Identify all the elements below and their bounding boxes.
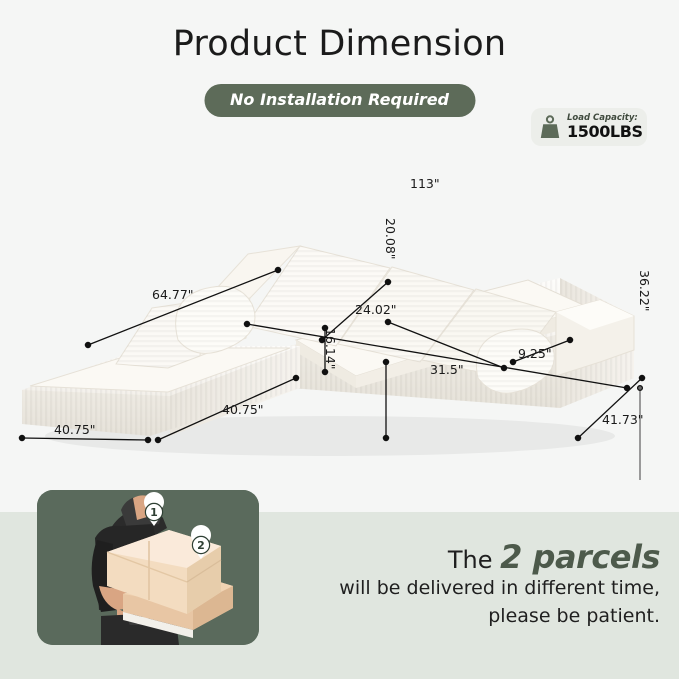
delivery-message-line-2: will be delivered in different time, [300, 575, 660, 603]
delivery-message-line-3: please be patient. [300, 603, 660, 631]
dimension-label-seat-depth: 24.02" [355, 302, 397, 317]
load-capacity-badge: Load Capacity: 1500LBS [531, 108, 647, 146]
svg-text:2: 2 [197, 539, 205, 552]
dimension-label-seat-width: 31.5" [430, 362, 464, 377]
delivery-parcel-count: 2 parcels [500, 538, 660, 576]
no-installation-badge: No Installation Required [204, 84, 475, 117]
delivery-message-line-1: The 2 parcels [300, 540, 660, 575]
dimension-label-back-height: 20.08" [383, 218, 398, 260]
dimension-label-seat-height: 16.14" [323, 328, 338, 370]
load-capacity-texts: Load Capacity: 1500LBS [567, 114, 643, 140]
delivery-photo-svg: 1 2 [37, 490, 259, 645]
delivery-message: The 2 parcels will be delivered in diffe… [300, 540, 660, 630]
dimension-label-sofa-depth: 41.73" [602, 412, 644, 427]
sofa-svg [0, 150, 679, 480]
weight-icon [538, 114, 562, 140]
dimension-label-chaise-length: 64.77" [152, 287, 194, 302]
delivery-photo: 1 2 [37, 490, 259, 645]
delivery-section: 1 2 The 2 parcels will be delivered in d… [0, 512, 679, 679]
load-capacity-value: 1500LBS [567, 124, 643, 140]
dimension-label-chaise-width-front: 40.75" [54, 422, 96, 437]
product-dimension-section: Product Dimension No Installation Requir… [0, 0, 679, 512]
dimension-label-chaise-width-side: 40.75" [222, 402, 264, 417]
delivery-line1-prefix: The [448, 546, 493, 574]
dimension-label-overall-width: 113" [410, 176, 440, 191]
dimension-label-overall-height: 36.22" [637, 270, 652, 312]
sofa-illustration: 113" 20.08" 36.22" 64.77" 24.02" 16.14" … [0, 150, 679, 480]
svg-text:1: 1 [150, 506, 158, 519]
dimension-label-armrest-width: 9.25" [518, 346, 552, 361]
infographic-page: Product Dimension No Installation Requir… [0, 0, 679, 679]
page-title: Product Dimension [0, 24, 679, 64]
